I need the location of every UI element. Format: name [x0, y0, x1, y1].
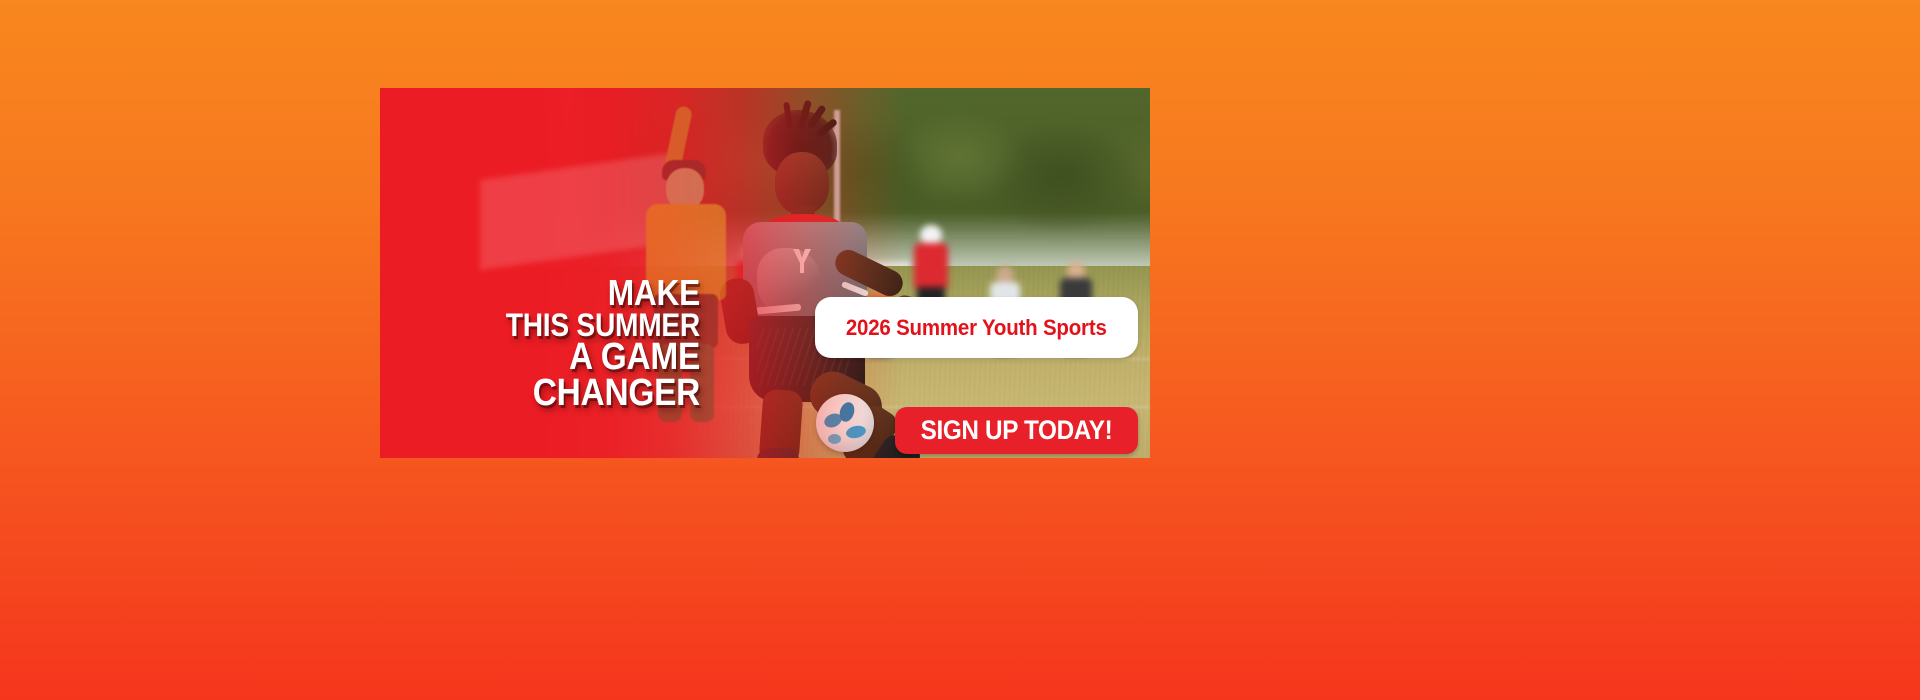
headline-line-1: MAKE: [418, 276, 700, 310]
headline-line-3: A GAME CHANGER: [418, 340, 700, 411]
program-title-label: 2026 Summer Youth Sports: [846, 315, 1107, 341]
page-background: MAKE THIS SUMMER A GAME CHANGER 2026 Sum…: [0, 0, 1920, 700]
sign-up-today-button[interactable]: SIGN UP TODAY!: [895, 407, 1138, 454]
promo-banner[interactable]: MAKE THIS SUMMER A GAME CHANGER 2026 Sum…: [380, 88, 1150, 458]
program-title-pill[interactable]: 2026 Summer Youth Sports: [815, 297, 1138, 358]
sign-up-today-label: SIGN UP TODAY!: [921, 415, 1113, 446]
banner-headline: MAKE THIS SUMMER A GAME CHANGER: [380, 276, 700, 411]
